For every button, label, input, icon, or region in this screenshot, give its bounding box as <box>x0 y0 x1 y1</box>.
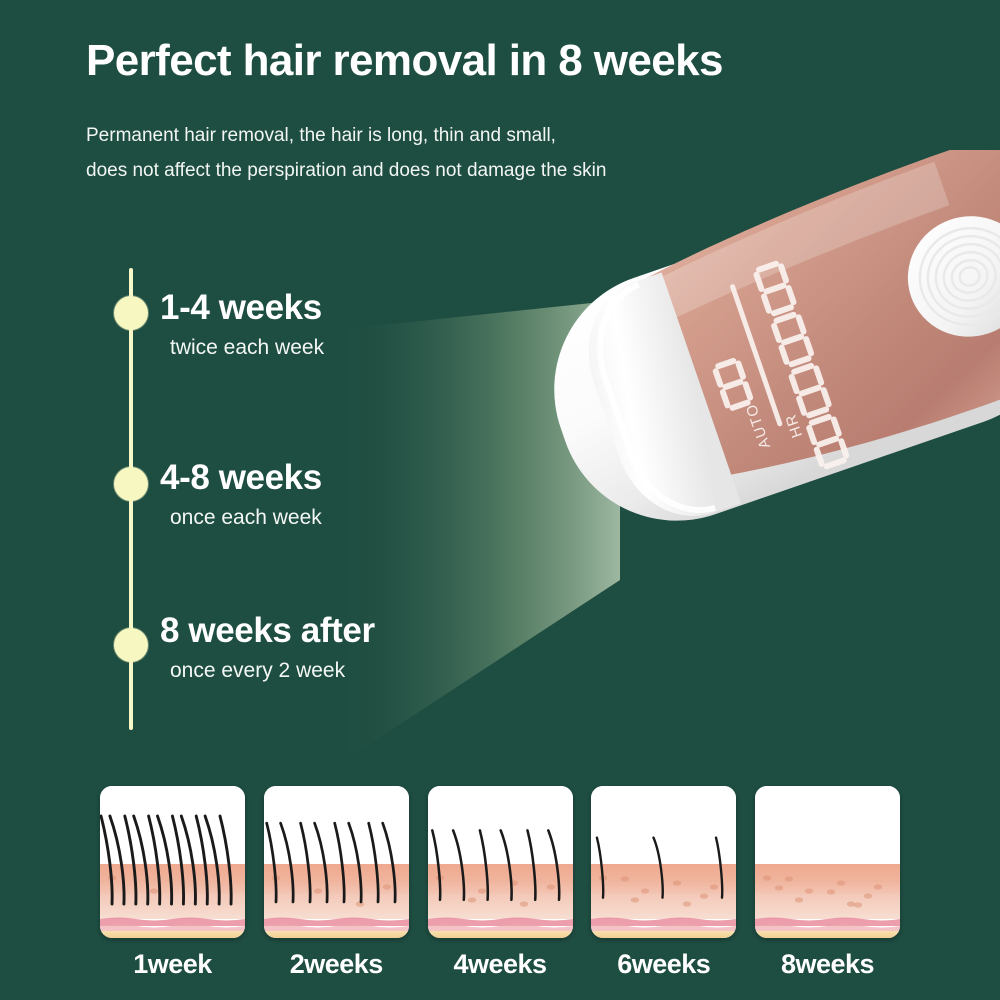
stage-item: 4weeks <box>428 786 573 1000</box>
skin-cross-section-card <box>755 786 900 938</box>
timeline-item-1-title: 1-4 weeks <box>160 290 324 325</box>
treatment-timeline: 1-4 weeks twice each week 4-8 weeks once… <box>0 0 520 760</box>
infographic-page: Perfect hair removal in 8 weeks Permanen… <box>0 0 1000 1000</box>
timeline-item-1: 1-4 weeks twice each week <box>160 290 324 358</box>
timeline-item-2-title: 4-8 weeks <box>160 460 322 495</box>
stage-label: 6weeks <box>591 949 736 980</box>
timeline-item-2-frequency: once each week <box>170 507 322 528</box>
timeline-item-3: 8 weeks after once every 2 week <box>160 613 375 681</box>
skin-cross-section-card <box>591 786 736 938</box>
skin-cross-section-card <box>264 786 409 938</box>
timeline-item-1-frequency: twice each week <box>170 337 324 358</box>
skin-cross-section-card <box>100 786 245 938</box>
timeline-dot-2 <box>114 467 148 501</box>
stage-label: 1week <box>100 949 245 980</box>
stage-item: 2weeks <box>264 786 409 1000</box>
timeline-dot-1 <box>114 296 148 330</box>
progress-stages-row: 1week2weeks4weeks6weeks8weeks <box>100 786 900 1000</box>
timeline-item-2: 4-8 weeks once each week <box>160 460 322 528</box>
ipl-device-illustration: AUTO HR <box>520 150 1000 620</box>
timeline-item-3-frequency: once every 2 week <box>170 660 375 681</box>
skin-cross-section-card <box>428 786 573 938</box>
timeline-item-3-title: 8 weeks after <box>160 613 375 648</box>
stage-label: 8weeks <box>755 949 900 980</box>
stage-item: 6weeks <box>591 786 736 1000</box>
timeline-dot-3 <box>114 628 148 662</box>
stage-item: 1week <box>100 786 245 1000</box>
stage-label: 4weeks <box>428 949 573 980</box>
stage-label: 2weeks <box>264 949 409 980</box>
stage-item: 8weeks <box>755 786 900 1000</box>
